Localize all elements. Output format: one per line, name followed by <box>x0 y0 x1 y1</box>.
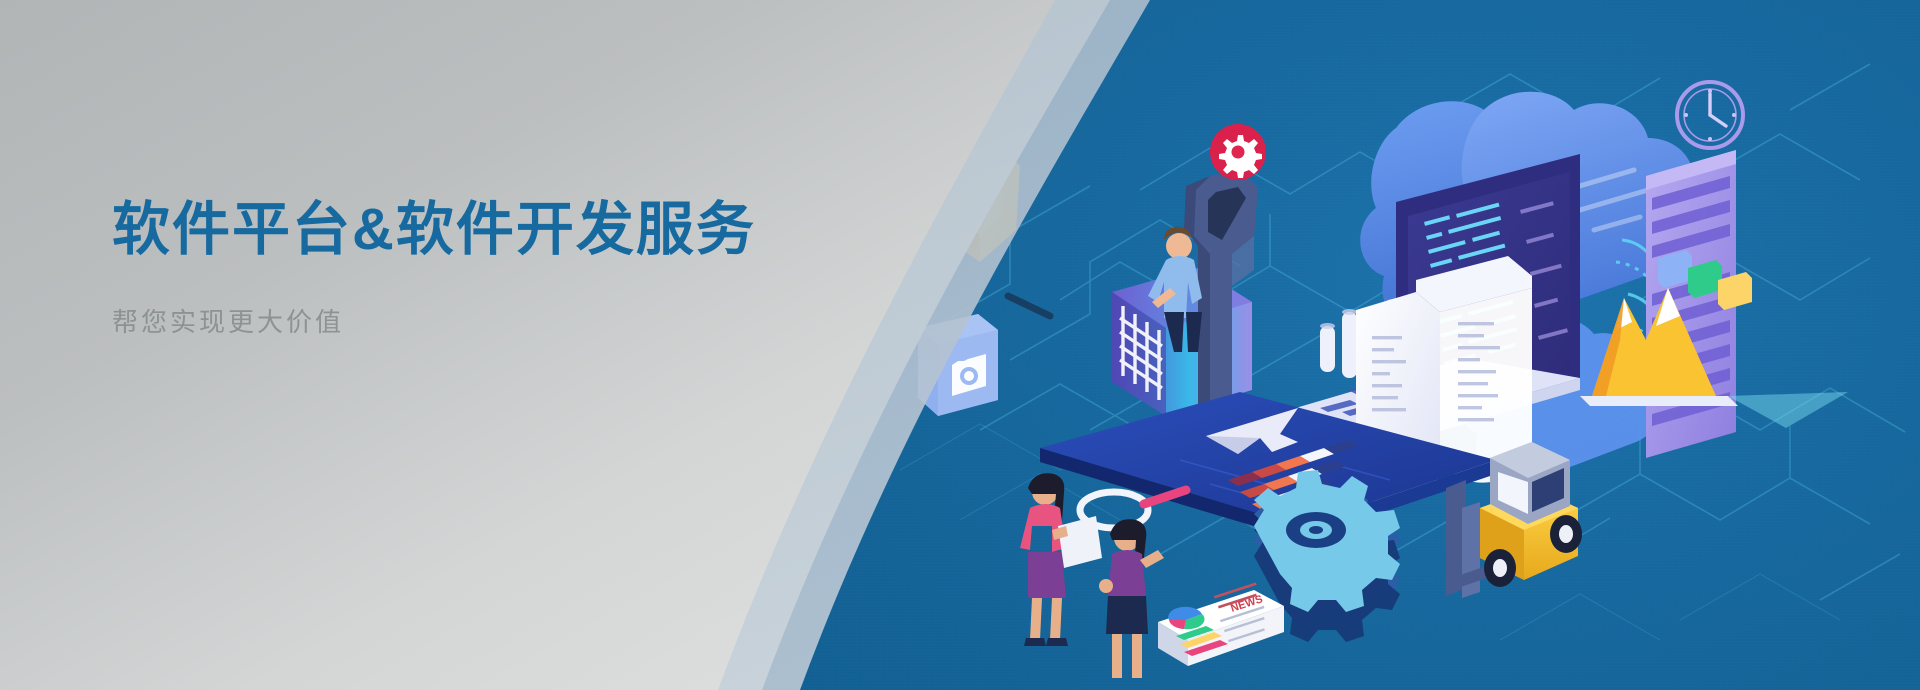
page-title: 软件平台&软件开发服务 <box>112 196 832 264</box>
hero-copy: 软件平台&软件开发服务 帮您实现更大价值 <box>112 196 832 339</box>
page-subtitle: 帮您实现更大价值 <box>112 302 832 339</box>
hero-banner: NEWS <box>0 0 1920 690</box>
decorative-curve-overlay <box>0 0 1920 690</box>
